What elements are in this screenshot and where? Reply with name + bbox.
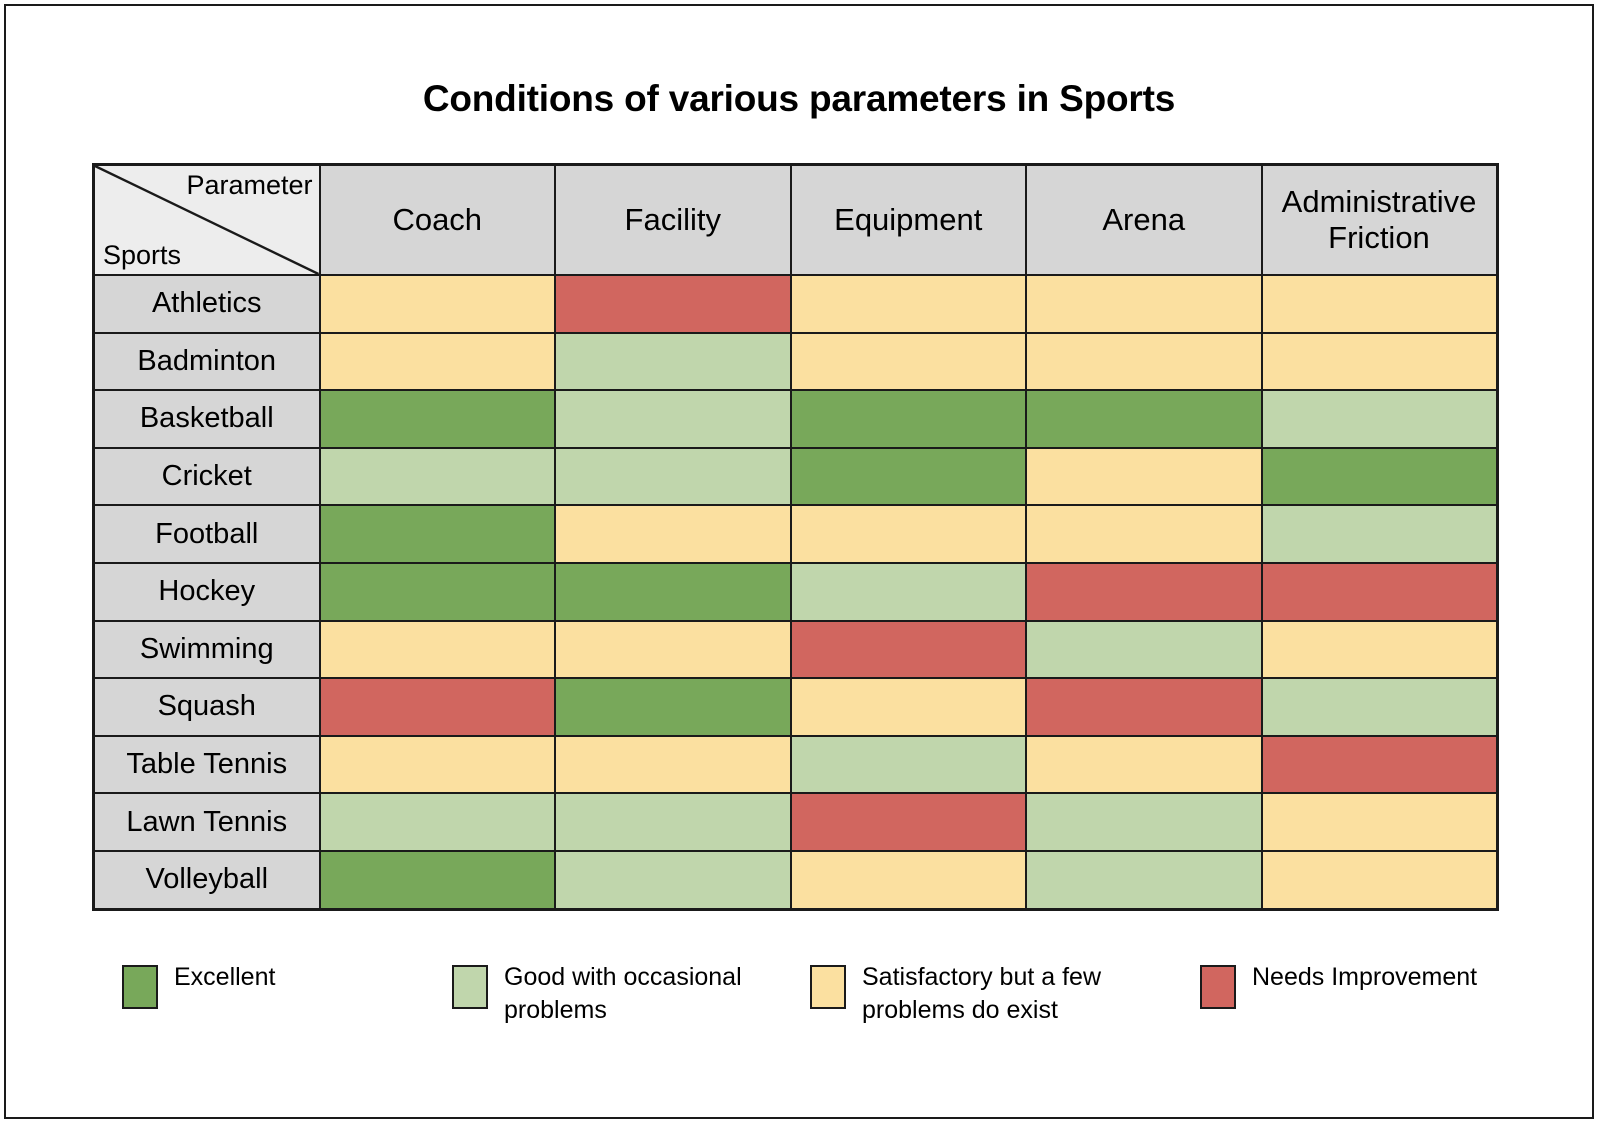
heatmap-cell	[555, 563, 791, 621]
row-header-squash: Squash	[94, 678, 320, 736]
row-header-badminton: Badminton	[94, 333, 320, 391]
heatmap-cell	[320, 563, 556, 621]
heatmap-cell	[1026, 678, 1262, 736]
table-row: Badminton	[94, 333, 1498, 391]
row-header-table-tennis: Table Tennis	[94, 736, 320, 794]
heatmap-cell	[1262, 333, 1498, 391]
heatmap-cell	[791, 275, 1027, 333]
heatmap-cell	[1262, 275, 1498, 333]
table-row: Cricket	[94, 448, 1498, 506]
table-row: Lawn Tennis	[94, 793, 1498, 851]
heatmap-matrix: Parameter Sports Coach Facility Equipmen…	[92, 163, 1496, 911]
legend-label-satisfactory: Satisfactory but a few problems do exist	[862, 961, 1134, 1027]
column-axis-label: Parameter	[186, 170, 312, 200]
heatmap-cell	[1026, 275, 1262, 333]
legend-item-satisfactory: Satisfactory but a few problems do exist	[810, 961, 1200, 1027]
heatmap-cell	[555, 621, 791, 679]
page-title: Conditions of various parameters in Spor…	[6, 78, 1592, 120]
heatmap-cell	[791, 793, 1027, 851]
row-header-hockey: Hockey	[94, 563, 320, 621]
header-row: Parameter Sports Coach Facility Equipmen…	[94, 165, 1498, 276]
heatmap-cell	[1262, 505, 1498, 563]
heatmap-cell	[555, 793, 791, 851]
heatmap-cell	[791, 621, 1027, 679]
heatmap-cell	[1026, 390, 1262, 448]
row-header-basketball: Basketball	[94, 390, 320, 448]
column-header-coach: Coach	[320, 165, 556, 276]
heatmap-cell	[320, 621, 556, 679]
heatmap-cell	[1262, 793, 1498, 851]
legend-item-excellent: Excellent	[122, 961, 452, 1009]
row-header-lawn-tennis: Lawn Tennis	[94, 793, 320, 851]
legend-label-needs-improvement: Needs Improvement	[1252, 961, 1477, 994]
table-row: Basketball	[94, 390, 1498, 448]
heatmap-cell	[791, 390, 1027, 448]
heatmap-cell	[791, 448, 1027, 506]
heatmap-cell	[791, 505, 1027, 563]
column-header-equipment: Equipment	[791, 165, 1027, 276]
legend-label-good: Good with occasional problems	[504, 961, 776, 1027]
heatmap-cell	[320, 793, 556, 851]
heatmap-cell	[320, 678, 556, 736]
axis-corner-cell: Parameter Sports	[94, 165, 320, 276]
heatmap-cell	[1026, 736, 1262, 794]
row-axis-label: Sports	[103, 240, 181, 270]
column-header-administrative-friction: Administrative Friction	[1262, 165, 1498, 276]
heatmap-cell	[1262, 563, 1498, 621]
legend-swatch-needs-improvement	[1200, 965, 1236, 1009]
legend-swatch-satisfactory	[810, 965, 846, 1009]
row-header-swimming: Swimming	[94, 621, 320, 679]
heatmap-cell	[320, 448, 556, 506]
heatmap-cell	[1026, 505, 1262, 563]
table-header: Parameter Sports Coach Facility Equipmen…	[94, 165, 1498, 276]
heatmap-cell	[555, 851, 791, 909]
legend-swatch-good	[452, 965, 488, 1009]
heatmap-cell	[320, 505, 556, 563]
conditions-table: Parameter Sports Coach Facility Equipmen…	[92, 163, 1499, 911]
heatmap-cell	[1262, 851, 1498, 909]
column-header-arena: Arena	[1026, 165, 1262, 276]
heatmap-cell	[791, 333, 1027, 391]
table-row: Squash	[94, 678, 1498, 736]
row-header-cricket: Cricket	[94, 448, 320, 506]
heatmap-cell	[555, 736, 791, 794]
heatmap-cell	[320, 390, 556, 448]
table-row: Hockey	[94, 563, 1498, 621]
heatmap-cell	[1026, 563, 1262, 621]
heatmap-cell	[791, 563, 1027, 621]
heatmap-cell	[1026, 851, 1262, 909]
table-row: Swimming	[94, 621, 1498, 679]
row-header-volleyball: Volleyball	[94, 851, 320, 909]
row-header-athletics: Athletics	[94, 275, 320, 333]
table-row: Athletics	[94, 275, 1498, 333]
heatmap-cell	[1262, 448, 1498, 506]
heatmap-cell	[1026, 793, 1262, 851]
heatmap-cell	[555, 678, 791, 736]
heatmap-cell	[1262, 621, 1498, 679]
legend: Excellent Good with occasional problems …	[122, 961, 1512, 1027]
heatmap-cell	[1026, 621, 1262, 679]
heatmap-cell	[320, 736, 556, 794]
heatmap-cell	[791, 851, 1027, 909]
heatmap-cell	[1262, 736, 1498, 794]
heatmap-cell	[555, 448, 791, 506]
table-row: Table Tennis	[94, 736, 1498, 794]
heatmap-cell	[555, 505, 791, 563]
heatmap-cell	[555, 390, 791, 448]
heatmap-cell	[791, 678, 1027, 736]
heatmap-cell	[1262, 390, 1498, 448]
heatmap-cell	[1026, 333, 1262, 391]
heatmap-cell	[320, 333, 556, 391]
table-row: Football	[94, 505, 1498, 563]
heatmap-cell	[555, 275, 791, 333]
legend-item-good: Good with occasional problems	[452, 961, 810, 1027]
legend-item-needs-improvement: Needs Improvement	[1200, 961, 1500, 1009]
legend-label-excellent: Excellent	[174, 961, 275, 994]
heatmap-cell	[555, 333, 791, 391]
table-body: AthleticsBadmintonBasketballCricketFootb…	[94, 275, 1498, 909]
heatmap-cell	[320, 851, 556, 909]
heatmap-cell	[1026, 448, 1262, 506]
legend-swatch-excellent	[122, 965, 158, 1009]
heatmap-cell	[320, 275, 556, 333]
heatmap-cell	[1262, 678, 1498, 736]
table-row: Volleyball	[94, 851, 1498, 909]
column-header-facility: Facility	[555, 165, 791, 276]
page-frame: Conditions of various parameters in Spor…	[4, 4, 1594, 1119]
heatmap-cell	[791, 736, 1027, 794]
row-header-football: Football	[94, 505, 320, 563]
